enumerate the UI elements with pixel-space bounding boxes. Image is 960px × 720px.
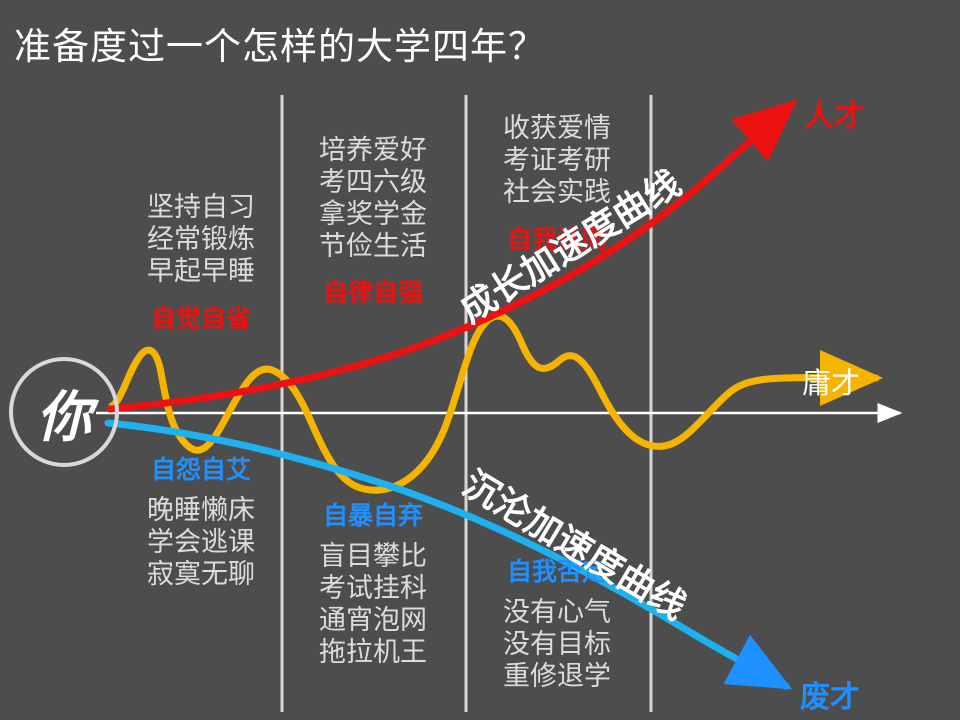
keyword-positive: 自觉自省 [126, 304, 276, 334]
origin-badge: 你 [9, 357, 119, 467]
list-item: 没有目标 [482, 629, 632, 661]
endpoint-label-waste: 废才 [800, 672, 860, 716]
list-item: 没有心气 [482, 597, 632, 629]
keyword-positive: 自律自强 [298, 278, 448, 308]
list-item: 考试挂科 [298, 573, 448, 605]
column-year-1-top: 坚持自习 经常锻炼 早起早睡 自觉自省 [126, 192, 276, 334]
list-item: 坚持自习 [126, 192, 276, 224]
list-item: 寂寞无聊 [126, 559, 276, 591]
column-year-2-top: 培养爱好 考四六级 拿奖学金 节俭生活 自律自强 [298, 135, 448, 308]
list-item: 节俭生活 [298, 231, 448, 263]
list-item: 盲目攀比 [298, 541, 448, 573]
list-item: 拖拉机王 [298, 637, 448, 669]
list-item: 通宵泡网 [298, 605, 448, 637]
column-year-1-bottom: 自怨自艾 晚睡懒床 学会逃课 寂寞无聊 [126, 455, 276, 591]
list-item: 考四六级 [298, 167, 448, 199]
slide-canvas: 准备度过一个怎样的大学四年？ [0, 0, 960, 720]
list-item: 经常锻炼 [126, 224, 276, 256]
list-item: 重修退学 [482, 661, 632, 693]
list-item: 收获爱情 [482, 113, 632, 145]
list-item: 考证考研 [482, 145, 632, 177]
keyword-negative: 自暴自弃 [298, 501, 448, 531]
list-item: 培养爱好 [298, 135, 448, 167]
origin-label: 你 [9, 357, 119, 467]
list-item: 学会逃课 [126, 527, 276, 559]
endpoint-label-mediocre: 庸才 [802, 360, 860, 402]
endpoint-label-talent: 人才 [804, 91, 864, 135]
keyword-negative: 自怨自艾 [126, 455, 276, 485]
column-year-2-bottom: 自暴自弃 盲目攀比 考试挂科 通宵泡网 拖拉机王 [298, 501, 448, 668]
list-item: 晚睡懒床 [126, 495, 276, 527]
list-item: 早起早睡 [126, 256, 276, 288]
list-item: 拿奖学金 [298, 199, 448, 231]
